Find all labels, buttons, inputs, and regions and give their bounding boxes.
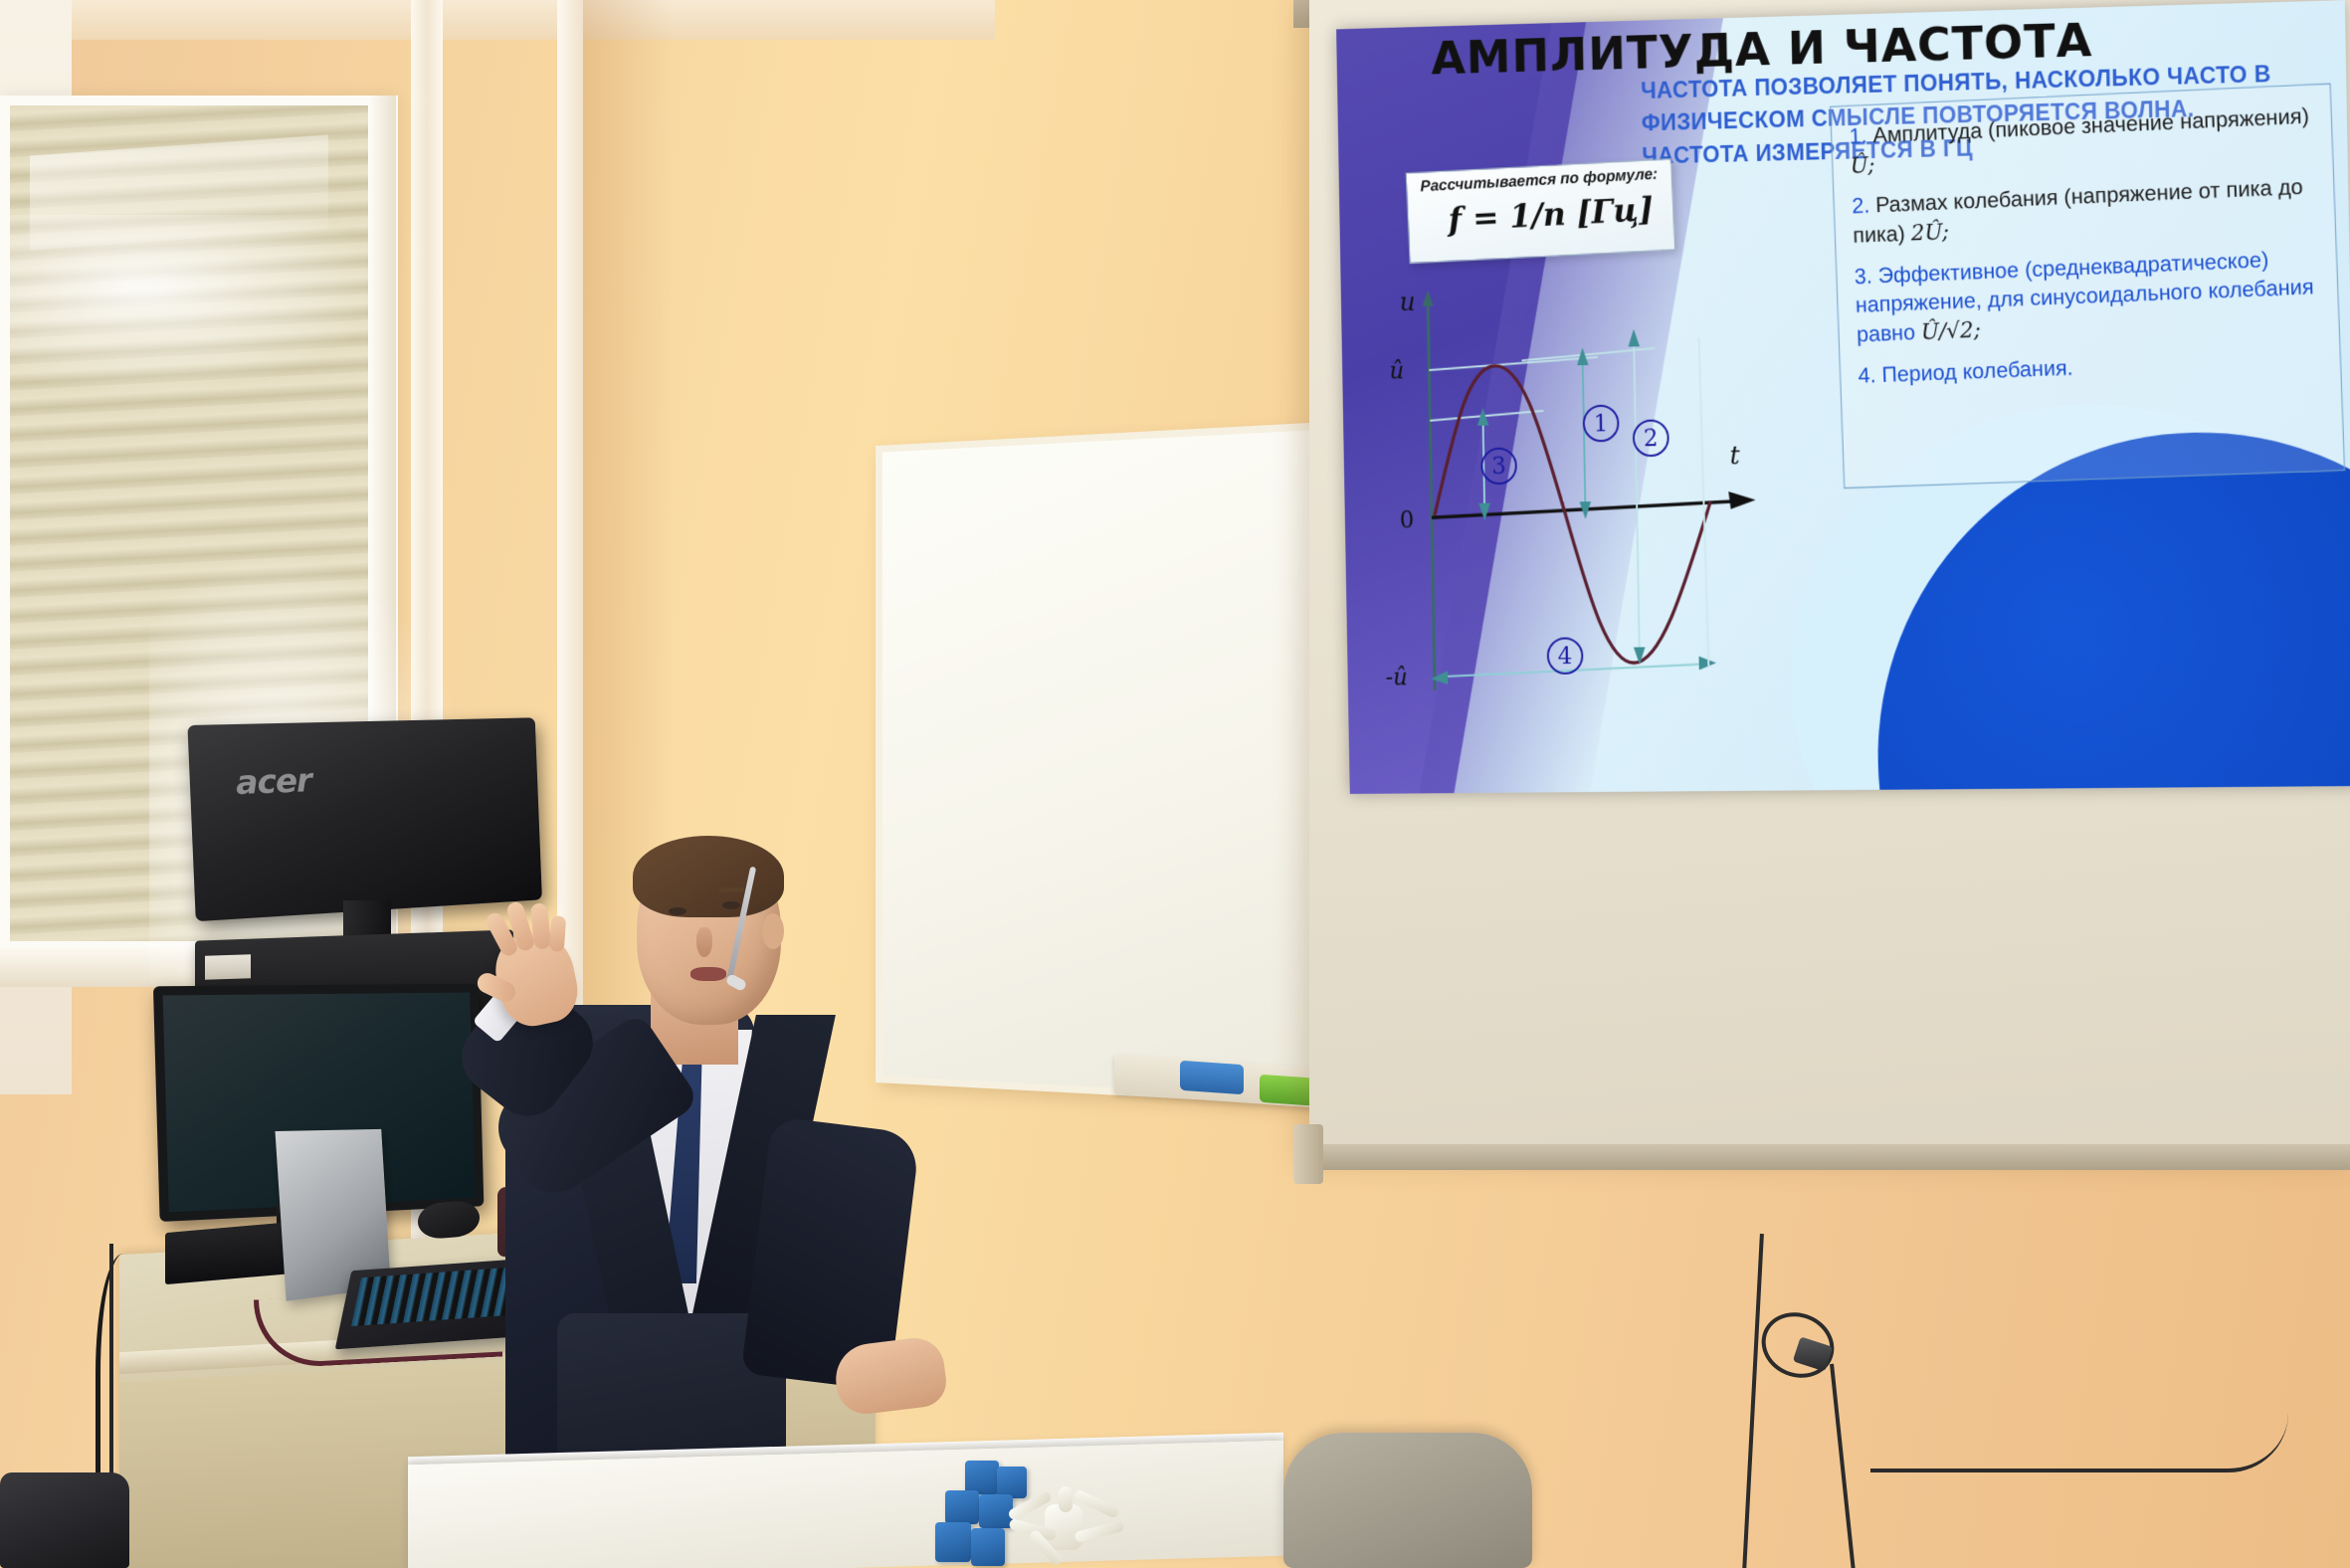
- bullet-item-1: 1. Амплитуда (пиковое значение напряжени…: [1849, 100, 2314, 181]
- bullet-3-line-a: Эффективное: [1877, 257, 2019, 288]
- bullet-3-number: 3.: [1854, 264, 1872, 289]
- sine-wave-chart: 1 2 3 4: [1379, 278, 1787, 703]
- projector-screen-weight-bar: [1309, 1144, 2350, 1170]
- finger-pinky: [549, 915, 566, 952]
- presenter-eye-right: [722, 901, 740, 909]
- annotation-4-label: 4: [1558, 642, 1573, 670]
- bullet-2-number: 2.: [1852, 193, 1870, 218]
- bullet-1-symbol: Û;: [1850, 153, 1874, 179]
- presenter-mouth: [690, 967, 726, 981]
- molecule-stem: [1059, 1486, 1073, 1512]
- bullet-2-line-a: Размах колебания (напряжение от: [1875, 178, 2221, 218]
- molecule-model: [1003, 1482, 1132, 1568]
- slide-bullet-list: 1. Амплитуда (пиковое значение напряжени…: [1830, 84, 2345, 489]
- annotation-3-label: 3: [1491, 452, 1506, 480]
- bullet-1-number: 1.: [1849, 123, 1867, 148]
- annotation-1-label: 1: [1594, 409, 1609, 437]
- annotation-2-label: 2: [1644, 424, 1659, 452]
- bullet-item-3: 3. Эффективное (среднеквадратическое) на…: [1854, 243, 2321, 350]
- classroom-scene: АМПЛИТУДА И ЧАСТОТА ЧАСТОТА ПОЗВОЛЯЕТ ПО…: [0, 0, 2350, 1568]
- visitor-chair: [1283, 1433, 1532, 1568]
- y-axis: [1428, 302, 1435, 690]
- bullet-3-symbol: Û/√2;: [1921, 318, 1982, 345]
- blue-block-6: [971, 1528, 1005, 1566]
- rms-guide-line: [1430, 411, 1543, 421]
- bullet-item-2: 2. Размах колебания (напряжение от пика …: [1852, 172, 2317, 252]
- annotation-2-arrow-up: [1628, 329, 1640, 347]
- blue-block-1: [965, 1461, 999, 1494]
- presenter-ear: [762, 913, 784, 949]
- presenter-nose: [696, 927, 712, 957]
- x-axis-arrow: [1728, 491, 1755, 509]
- pc-barcode-label: [205, 954, 251, 980]
- bullet-item-4: 4. Период колебания.: [1858, 343, 2322, 390]
- bullet-4-number: 4.: [1858, 362, 1876, 387]
- projector-screen-roller: [1293, 1124, 1323, 1184]
- presenter-eyebrow-right: [718, 887, 744, 893]
- formula-expression: f = 1/n [Гц]: [1448, 190, 1655, 239]
- bag-on-floor: [0, 1472, 129, 1568]
- formula-callout: Рассчитывается по формуле: f = 1/n [Гц]: [1406, 158, 1675, 264]
- acer-monitor-rear: acer: [187, 717, 542, 921]
- blue-eraser: [1180, 1061, 1244, 1094]
- y-tick-negpeak: -û: [1385, 664, 1408, 691]
- blue-block-5: [935, 1522, 971, 1562]
- blue-block-3: [945, 1490, 979, 1524]
- annotation-1-arrow-up: [1577, 347, 1589, 365]
- bullet-2-symbol: 2Û;: [1910, 220, 1949, 246]
- y-tick-zero: 0: [1400, 506, 1415, 534]
- ceiling: [0, 0, 995, 40]
- bullet-4-line-a: Период колебания.: [1881, 355, 2073, 387]
- projected-slide: АМПЛИТУДА И ЧАСТОТА ЧАСТОТА ПОЗВОЛЯЕТ ПО…: [1336, 0, 2350, 794]
- y-axis-label: u: [1399, 288, 1415, 317]
- bullet-1-line-b: напряжения): [2180, 103, 2310, 134]
- annotation-3-line: [1483, 420, 1485, 509]
- y-tick-peak: û: [1389, 357, 1404, 385]
- bullet-1-line-a: Амплитуда (пиковое значение: [1872, 109, 2174, 147]
- peak-guide-line: [1429, 357, 1598, 370]
- presenter-hair: [633, 836, 784, 917]
- x-axis-label: t: [1729, 441, 1740, 471]
- sine-curve: [1432, 362, 1713, 666]
- wall-cable-3: [1870, 1393, 2288, 1472]
- slide-background: АМПЛИТУДА И ЧАСТОТА ЧАСТОТА ПОЗВОЛЯЕТ ПО…: [1336, 0, 2350, 794]
- laptop-power-cable: [254, 1286, 502, 1369]
- presenter-eye-left: [669, 907, 686, 915]
- whiteboard: [876, 421, 1346, 1107]
- y-axis-arrow: [1422, 291, 1434, 306]
- annotation-2-line: [1634, 341, 1640, 654]
- blinds-glare: [10, 215, 388, 394]
- annotation-3-arrow-down: [1478, 503, 1490, 521]
- acer-logo: acer: [235, 761, 311, 802]
- annotation-1-line: [1583, 359, 1586, 507]
